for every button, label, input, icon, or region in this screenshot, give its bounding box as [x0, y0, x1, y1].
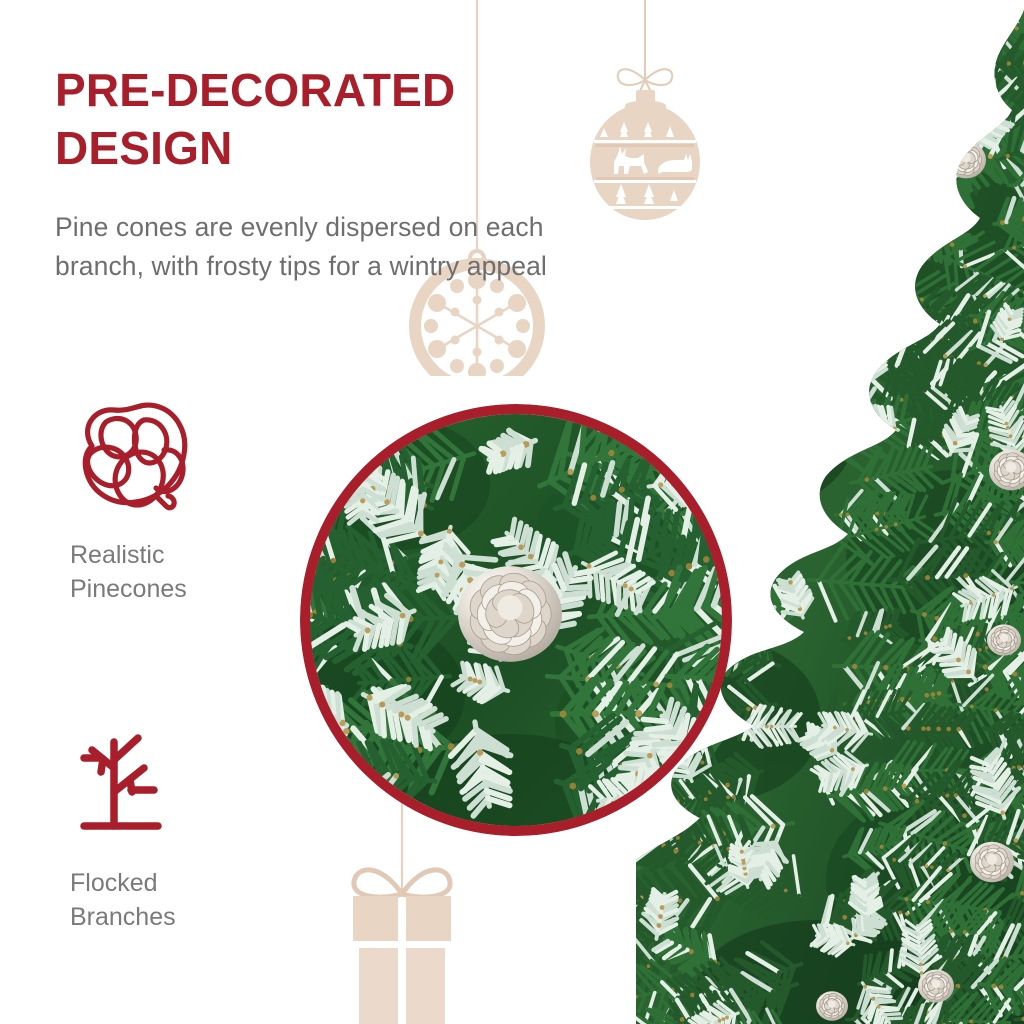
product-feature-graphic: PRE-DECORATED DESIGN Pine cones are even… — [0, 0, 1024, 1024]
subtitle-copy: Pine cones are evenly dispersed on each … — [55, 208, 555, 285]
feature-flocked-branches: Flocked Branches — [52, 726, 302, 935]
page-title: PRE-DECORATED DESIGN — [55, 62, 575, 178]
hanging-gift-box-icon — [330, 800, 490, 1024]
magnified-detail-image — [310, 414, 722, 826]
feature-label: Flocked Branches — [70, 867, 270, 935]
bare-branch-icon — [70, 726, 200, 851]
pinecone-icon — [70, 398, 200, 523]
feature-realistic-pinecones: Realistic Pinecones — [52, 398, 302, 607]
feature-label: Realistic Pinecones — [70, 539, 270, 607]
magnified-detail-circle — [300, 404, 732, 836]
hanging-snowflake-ornament-icon — [400, 0, 560, 376]
